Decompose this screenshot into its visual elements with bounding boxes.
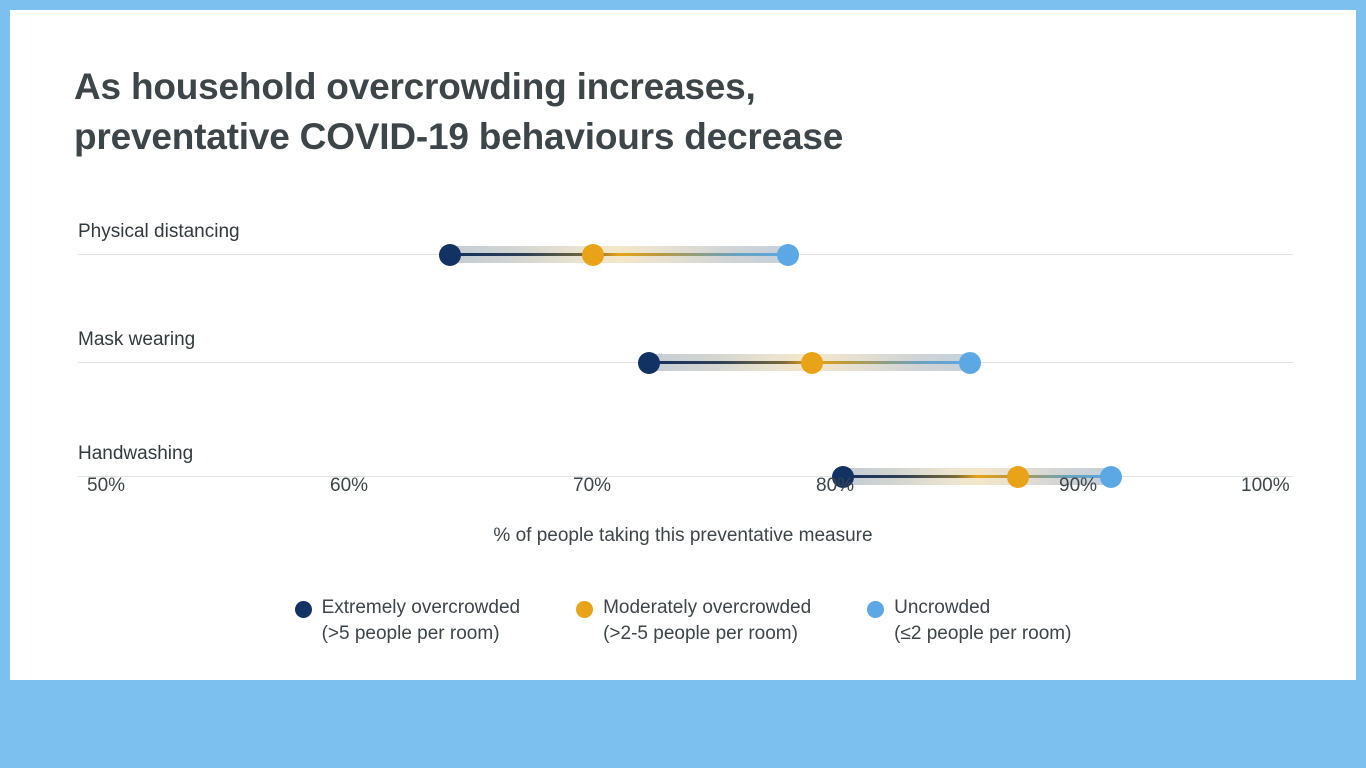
footer-band: World Health Organization bbox=[0, 680, 1366, 768]
content-panel: As household overcrowding increases, pre… bbox=[10, 10, 1356, 680]
x-axis-tick: 60% bbox=[330, 475, 368, 497]
x-axis-caption: % of people taking this preventative mea… bbox=[10, 525, 1356, 547]
chart-plot-area: Physical distancingMask wearingHandwashi… bbox=[10, 10, 1356, 680]
legend-label-primary: Uncrowded bbox=[894, 595, 1071, 621]
legend-label-primary: Moderately overcrowded bbox=[603, 595, 811, 621]
legend-label-secondary: (>2-5 people per room) bbox=[603, 621, 811, 647]
chart-legend: Extremely overcrowded(>5 people per room… bbox=[10, 595, 1356, 646]
legend-swatch-icon bbox=[295, 601, 312, 618]
x-axis-tick: 90% bbox=[1059, 475, 1097, 497]
legend-item-extremely[interactable]: Extremely overcrowded(>5 people per room… bbox=[295, 595, 521, 646]
row-label: Physical distancing bbox=[78, 221, 240, 243]
legend-label: Uncrowded(≤2 people per room) bbox=[894, 595, 1071, 646]
legend-item-moderately[interactable]: Moderately overcrowded(>2-5 people per r… bbox=[576, 595, 811, 646]
row-label: Handwashing bbox=[78, 443, 193, 465]
range-connector-line bbox=[450, 253, 788, 256]
chart-row: Mask wearing bbox=[10, 313, 1356, 373]
legend-swatch-icon bbox=[576, 601, 593, 618]
legend-item-uncrowded[interactable]: Uncrowded(≤2 people per room) bbox=[867, 595, 1071, 646]
row-label: Mask wearing bbox=[78, 329, 195, 351]
data-point-dot[interactable] bbox=[777, 244, 799, 266]
data-point-dot[interactable] bbox=[582, 244, 604, 266]
x-axis-tick-labels: 50%60%70%80%90%100% bbox=[78, 475, 1293, 505]
legend-label-secondary: (>5 people per room) bbox=[322, 621, 521, 647]
data-point-dot[interactable] bbox=[959, 352, 981, 374]
legend-swatch-icon bbox=[867, 601, 884, 618]
x-axis-tick: 80% bbox=[816, 475, 854, 497]
legend-label-primary: Extremely overcrowded bbox=[322, 595, 521, 621]
legend-label-secondary: (≤2 people per room) bbox=[894, 621, 1071, 647]
data-point-dot[interactable] bbox=[638, 352, 660, 374]
data-point-dot[interactable] bbox=[801, 352, 823, 374]
x-axis-tick: 100% bbox=[1241, 475, 1290, 497]
infographic-frame: As household overcrowding increases, pre… bbox=[0, 0, 1366, 768]
chart-row: Physical distancing bbox=[10, 205, 1356, 265]
data-point-dot[interactable] bbox=[439, 244, 461, 266]
x-axis-tick: 50% bbox=[87, 475, 125, 497]
legend-label: Moderately overcrowded(>2-5 people per r… bbox=[603, 595, 811, 646]
x-axis-tick: 70% bbox=[573, 475, 611, 497]
legend-label: Extremely overcrowded(>5 people per room… bbox=[322, 595, 521, 646]
